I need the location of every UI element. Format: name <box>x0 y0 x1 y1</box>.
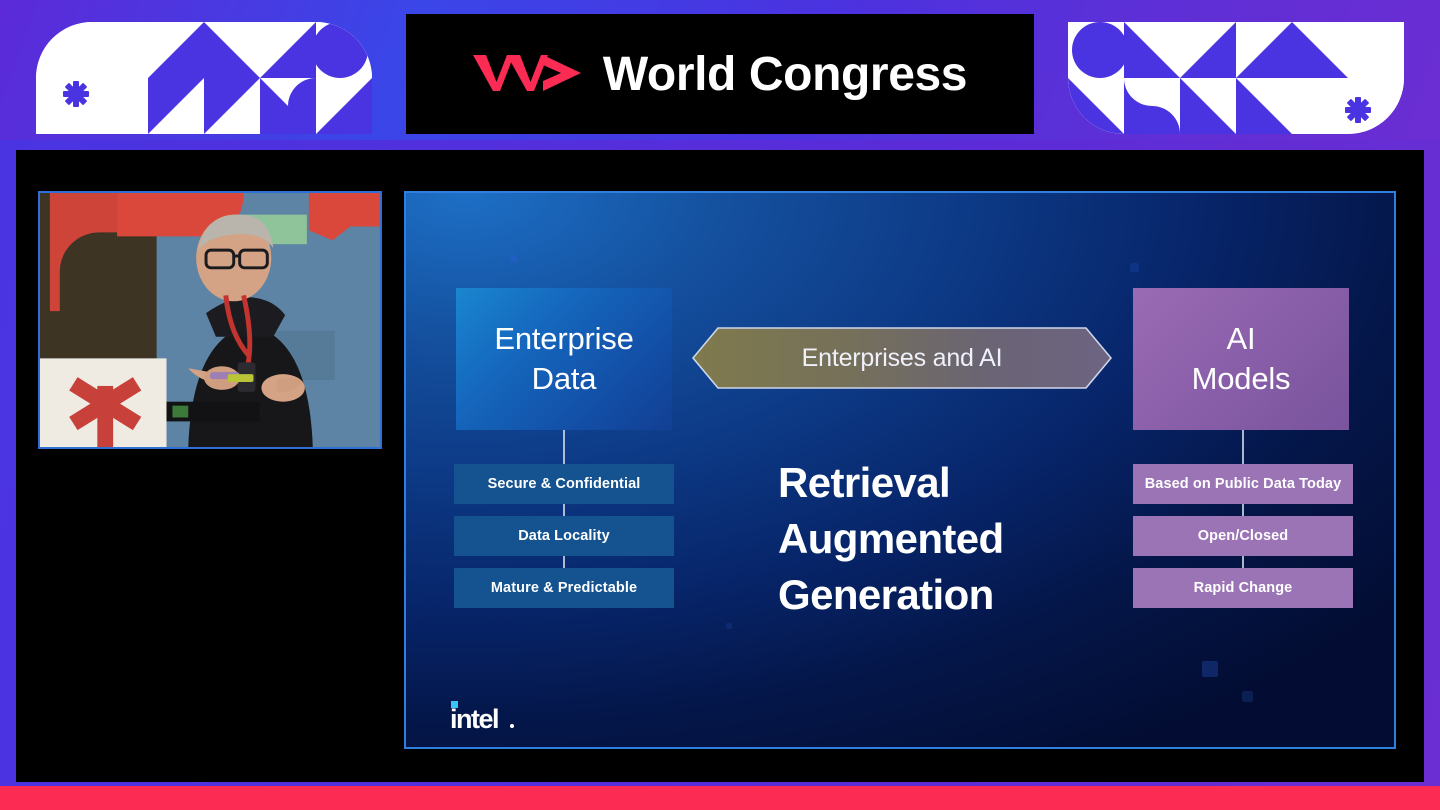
bottom-accent-bar <box>0 786 1440 810</box>
ai-item-2: Rapid Change <box>1133 568 1353 608</box>
ai-models-title-line1: AI <box>1227 319 1256 359</box>
svg-text:intel: intel <box>450 704 498 731</box>
ai-models-box: AI Models <box>1133 288 1349 430</box>
speaker-video-feed <box>38 191 382 449</box>
enterprise-item-0-label: Secure & Confidential <box>488 476 641 492</box>
mwc-geometric-logo-left <box>36 22 372 134</box>
enterprise-item-1-label: Data Locality <box>518 528 610 544</box>
ai-item-2-label: Rapid Change <box>1194 580 1293 596</box>
ai-item-0: Based on Public Data Today <box>1133 464 1353 504</box>
connector-right-2 <box>1242 504 1244 516</box>
intel-logo: intel <box>450 701 520 731</box>
slide-headline: Retrieval Augmented Generation <box>778 455 1108 623</box>
mwc-geometric-logo-right <box>1068 22 1404 134</box>
ai-models-title-line2: Models <box>1192 359 1291 399</box>
connector-right-1 <box>1242 430 1244 464</box>
enterprise-item-1: Data Locality <box>454 516 674 556</box>
connector-right-3 <box>1242 556 1244 568</box>
enterprise-item-2: Mature & Predictable <box>454 568 674 608</box>
enterprise-item-2-label: Mature & Predictable <box>491 580 637 596</box>
connector-left-3 <box>563 556 565 568</box>
enterprise-item-0: Secure & Confidential <box>454 464 674 504</box>
ai-item-1: Open/Closed <box>1133 516 1353 556</box>
ai-item-0-label: Based on Public Data Today <box>1145 476 1342 492</box>
vm-arrow-logo-icon <box>473 47 585 101</box>
enterprise-data-title-line1: Enterprise <box>494 319 633 359</box>
event-title-plate: World Congress <box>406 14 1034 134</box>
ai-item-1-label: Open/Closed <box>1198 528 1289 544</box>
enterprise-data-box: Enterprise Data <box>456 288 672 430</box>
presentation-screenshot: World Congress <box>0 0 1440 810</box>
headline-line3: Generation <box>778 567 1108 623</box>
enterprises-and-ai-label: Enterprises and AI <box>692 327 1112 389</box>
connector-left-1 <box>563 430 565 464</box>
enterprises-and-ai-banner: Enterprises and AI <box>692 327 1112 389</box>
presentation-slide: Enterprise Data Secure & Confidential Da… <box>404 191 1396 749</box>
connector-left-2 <box>563 504 565 516</box>
headline-line2: Augmented <box>778 511 1108 567</box>
event-header-band: World Congress <box>0 0 1440 152</box>
enterprise-data-title-line2: Data <box>532 359 597 399</box>
event-title: World Congress <box>603 47 967 102</box>
headline-line1: Retrieval <box>778 455 1108 511</box>
